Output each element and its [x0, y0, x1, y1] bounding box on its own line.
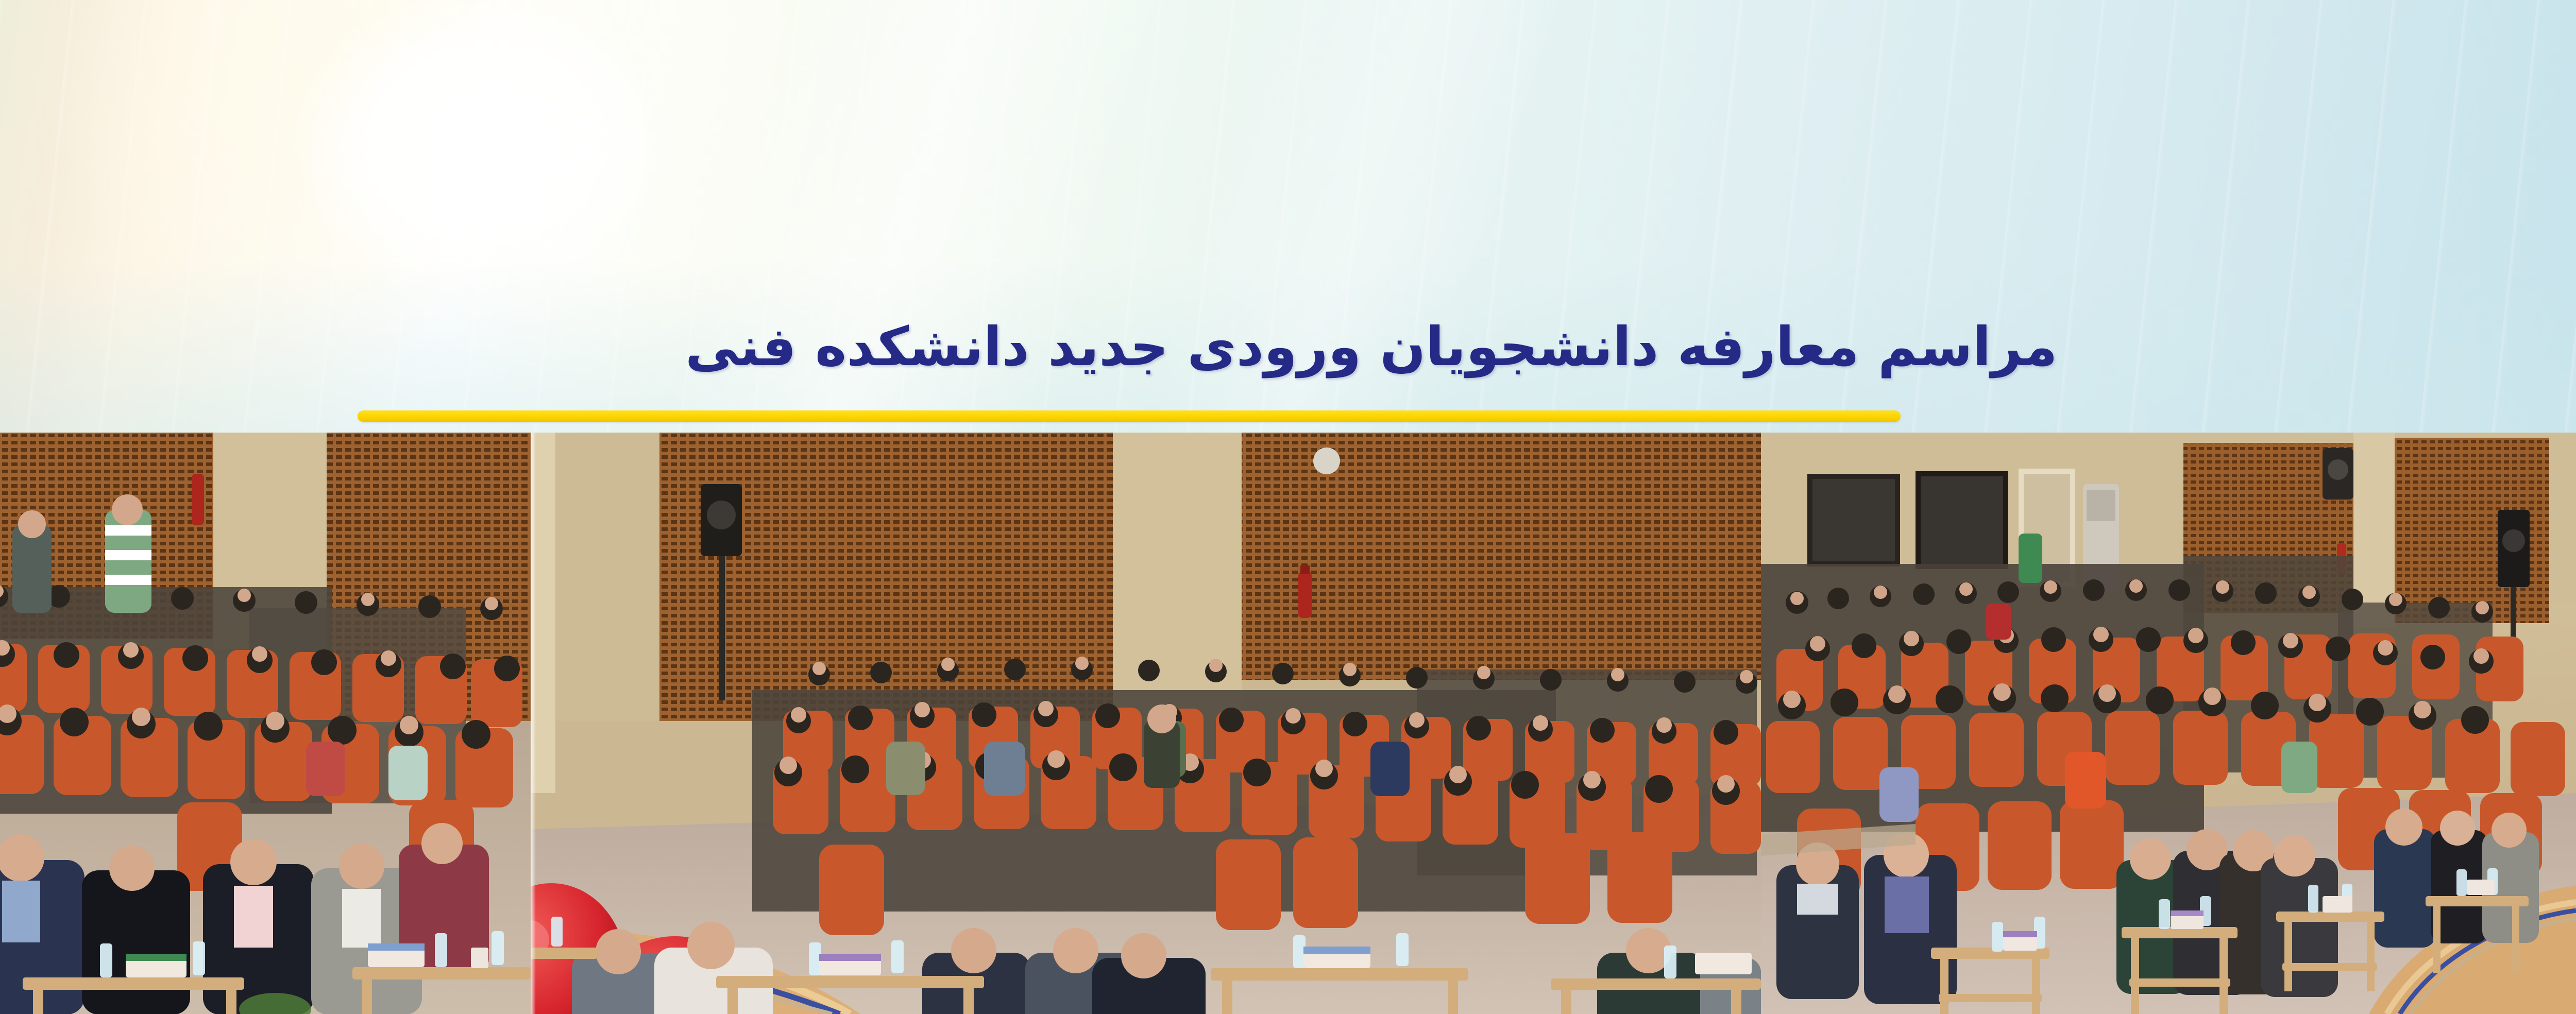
auditorium-left-view — [1761, 433, 2576, 1014]
auditorium-right-view — [0, 433, 531, 1014]
photo-strip — [0, 433, 2576, 1014]
title-underline-rule — [358, 410, 1901, 422]
banner-title: مراسم معارفه دانشجویان ورودی جدید دانشکد… — [685, 315, 2385, 378]
event-banner: دانشگاه گیلان روابط عمومی مراسم معارفه د… — [0, 0, 2576, 1014]
auditorium-center-view — [531, 433, 1761, 1014]
